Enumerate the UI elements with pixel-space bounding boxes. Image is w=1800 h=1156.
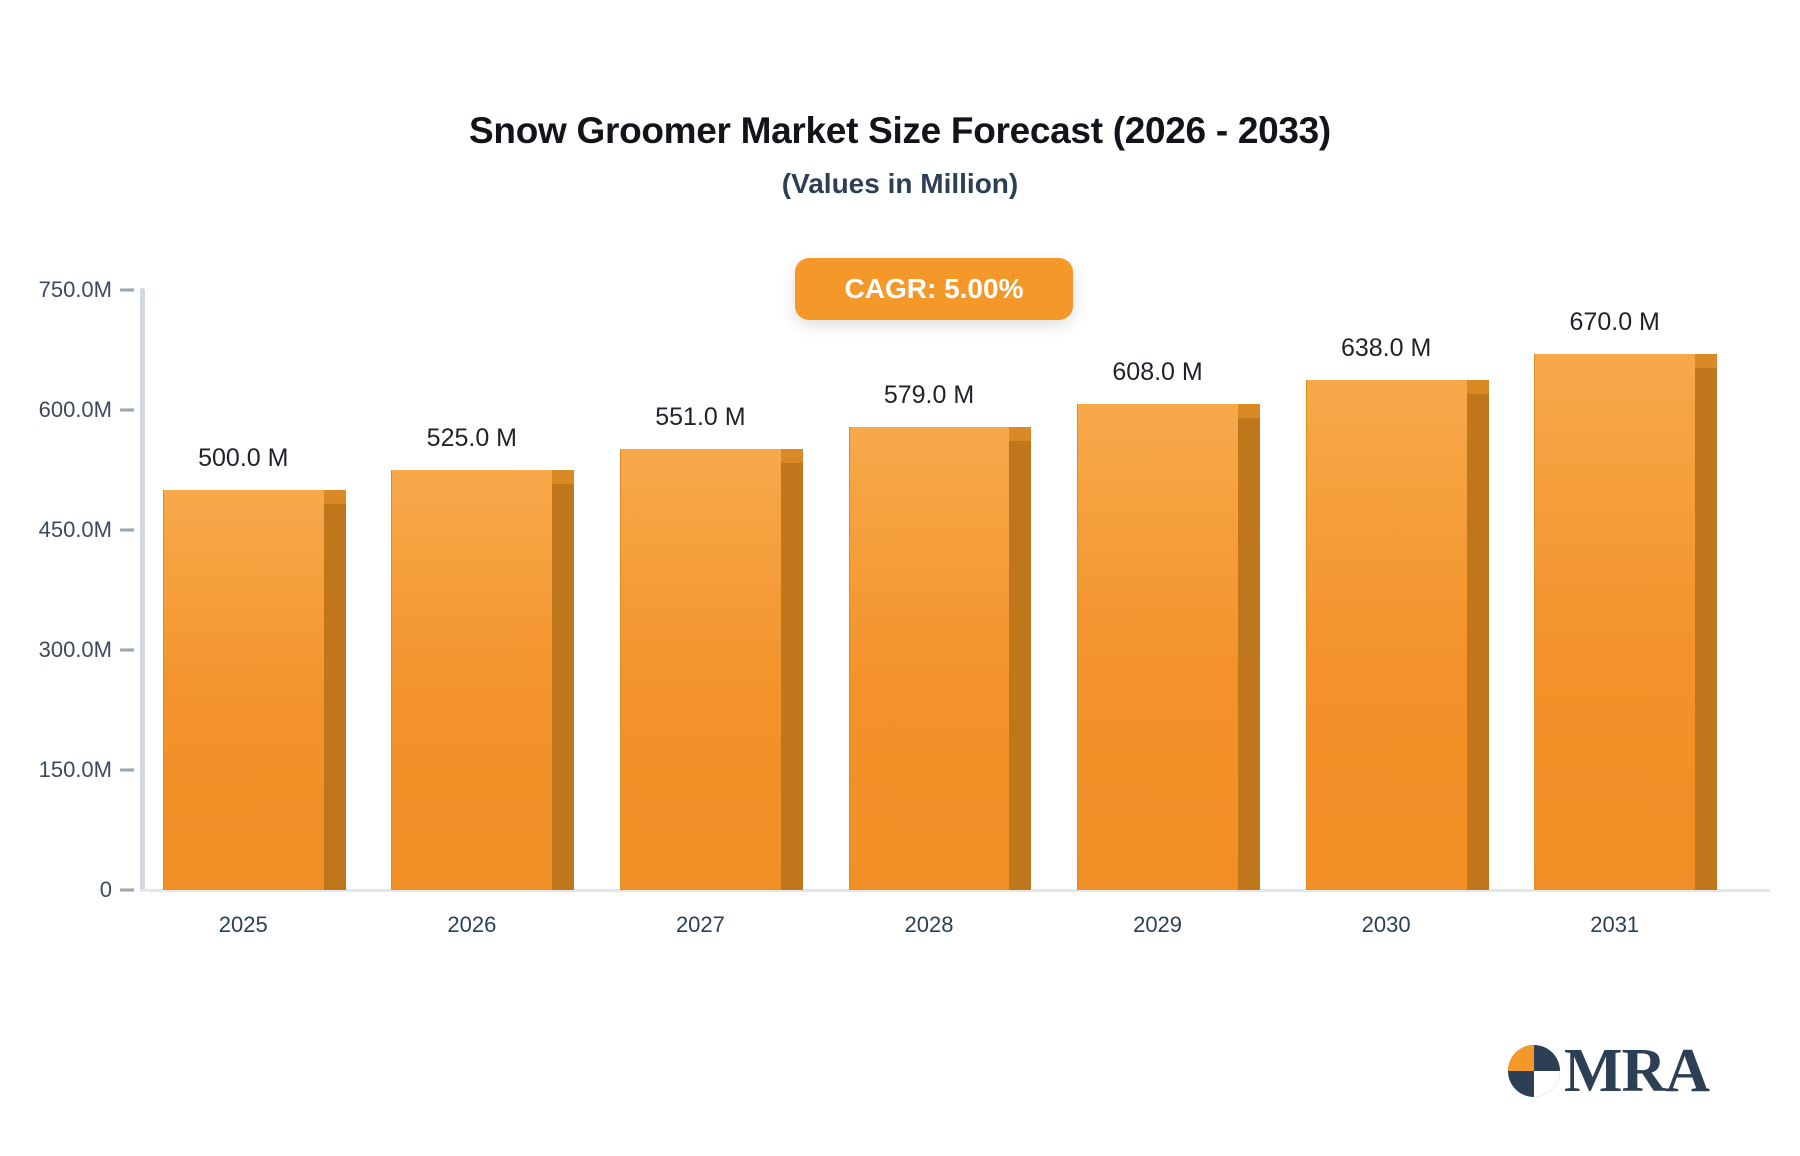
bar-top-face <box>1009 427 1031 441</box>
y-axis-tick-mark <box>120 769 134 772</box>
bar-side-face <box>1238 418 1260 890</box>
bar-value-label: 670.0 M <box>1465 308 1765 337</box>
bar-side-face <box>1009 441 1031 890</box>
bar[interactable] <box>1534 354 1717 890</box>
x-axis-tick-label: 2028 <box>809 912 1049 938</box>
x-axis-tick-label: 2027 <box>580 912 820 938</box>
bar[interactable] <box>391 470 574 890</box>
y-axis-tick-label: 750.0M <box>0 277 112 303</box>
bar-front-face <box>620 449 781 890</box>
bar[interactable] <box>1306 380 1489 890</box>
bar-front-face <box>163 490 324 890</box>
chart-title: Snow Groomer Market Size Forecast (2026 … <box>0 110 1800 152</box>
y-axis-tick-mark <box>120 409 134 412</box>
y-axis-tick-mark <box>120 649 134 652</box>
bar-side-face <box>781 463 803 890</box>
bar-top-face <box>552 470 574 484</box>
bar[interactable] <box>1077 404 1260 890</box>
bar-side-face <box>1695 368 1717 890</box>
y-axis-tick-label: 150.0M <box>0 757 112 783</box>
y-axis-tick-label: 600.0M <box>0 397 112 423</box>
bar-side-face <box>324 504 346 890</box>
bar[interactable] <box>620 449 803 890</box>
brand-logo: MRA <box>1508 1040 1709 1102</box>
chart-subtitle: (Values in Million) <box>0 168 1800 200</box>
cagr-badge: CAGR: 5.00% <box>795 258 1073 320</box>
bar-side-face <box>552 484 574 890</box>
bar-side-face <box>1467 394 1489 890</box>
bar[interactable] <box>849 427 1032 890</box>
x-axis-tick-label: 2030 <box>1266 912 1506 938</box>
y-axis-tick-label: 450.0M <box>0 517 112 543</box>
x-axis-tick-label: 2031 <box>1495 912 1735 938</box>
logo-wordmark: MRA <box>1564 1040 1709 1102</box>
bar-top-face <box>781 449 803 463</box>
x-axis-tick-label: 2029 <box>1038 912 1278 938</box>
bar-front-face <box>1534 354 1695 890</box>
y-axis-tick-label: 300.0M <box>0 637 112 663</box>
y-axis-tick-label: 0 <box>0 877 112 903</box>
y-axis-tick-mark <box>120 529 134 532</box>
y-axis-tick-mark <box>120 889 134 892</box>
bar-front-face <box>849 427 1010 890</box>
bar[interactable] <box>163 490 346 890</box>
bar-top-face <box>1467 380 1489 394</box>
chart-page: Snow Groomer Market Size Forecast (2026 … <box>0 0 1800 1156</box>
y-axis-tick-mark <box>120 289 134 292</box>
pie-chart-logo-icon <box>1508 1045 1560 1097</box>
bar-front-face <box>1077 404 1238 890</box>
x-axis-tick-label: 2025 <box>123 912 363 938</box>
bar-top-face <box>1695 354 1717 368</box>
x-axis-tick-label: 2026 <box>352 912 592 938</box>
bar-top-face <box>1238 404 1260 418</box>
bar-top-face <box>324 490 346 504</box>
bar-front-face <box>1306 380 1467 890</box>
bar-front-face <box>391 470 552 890</box>
bar-value-label: 638.0 M <box>1236 334 1536 363</box>
